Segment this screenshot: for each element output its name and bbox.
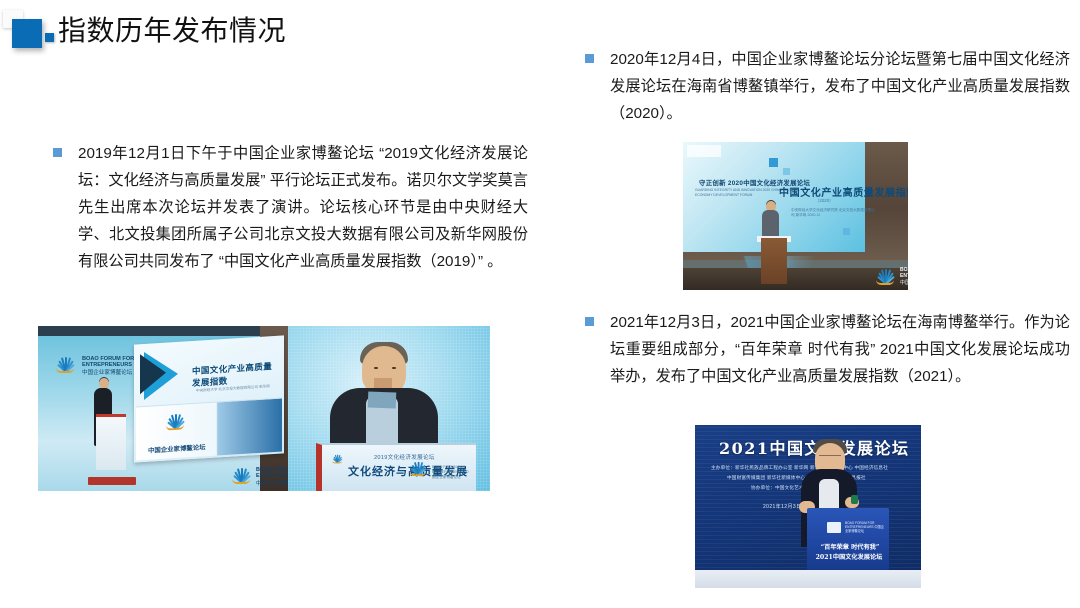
bullet-text-2020: 2020年12月4日，中国企业家博鳌论坛分论坛暨第七届中国文化经济发展论坛在海南… xyxy=(610,46,1070,127)
boao-logo-bottom-cn: 中国企业家博鳌论坛 xyxy=(256,481,288,488)
moyan-collar xyxy=(368,392,397,409)
boao-logo-2020: BOAO FORUM FOR ENTREPRENEURS 中国企业家博鳌论坛 xyxy=(872,266,898,284)
boao-logo-left: BOAO FORUM FOR ENTREPRENEURS 中国企业家博鳌论坛 xyxy=(52,354,78,372)
led-right-title: 中国文化产业高质量发展指数 xyxy=(779,184,908,199)
bullet-square-icon xyxy=(585,317,594,326)
decoration-small-blue-square xyxy=(45,33,54,42)
bullet-text-2019: 2019年12月1日下午于中国企业家博鳌论坛 “2019文化经济发展论坛：文化经… xyxy=(78,140,528,275)
shell-fan-icon-2020 xyxy=(872,266,898,284)
podium-2021-title-1: “百年荣章 时代有我” xyxy=(815,542,885,551)
boao-logo-bottom: BOAO FORUM FOR ENTREPRENEURS 中国企业家博鳌论坛 xyxy=(228,465,254,483)
stage-screen: 中国文化产业高质量发展指数 （2019） 中央财经大学 北京文投大数据有限公司 … xyxy=(134,335,284,462)
led-right-subtitle: （2020） xyxy=(815,198,834,204)
forum-org-line-1: 主办单位：新华社民族品牌工程办公室 新华网 新华社新闻信息中心 中国经济信息社 xyxy=(711,465,888,471)
bullet-text-2021: 2021年12月3日，2021中国企业家博鳌论坛在海南博鳌举行。作为论坛重要组成… xyxy=(610,309,1070,390)
bullet-item-2019: 2019年12月1日下午于中国企业家博鳌论坛 “2019文化经济发展论坛：文化经… xyxy=(38,140,528,275)
podium-shell-fan-icon-right xyxy=(406,459,432,477)
moyan-eye-left xyxy=(374,367,378,369)
bullet-item-2020: 2020年12月4日，中国企业家博鳌论坛分论坛暨第七届中国文化经济发展论坛在海南… xyxy=(570,46,1070,127)
led-decor-square-1 xyxy=(769,158,778,167)
boao-logo-2020-en: BOAO FORUM FOR ENTREPRENEURS xyxy=(900,267,908,279)
photo-2021-forum: 2021中国文化发展论坛 主办单位：新华社民族品牌工程办公室 新华网 新华社新闻… xyxy=(695,425,921,588)
podium-2021-logo-text: BOAO FORUM FOR ENTREPRENEURS 中国企业家博鳌论坛 xyxy=(845,521,885,533)
bullet-square-icon xyxy=(585,54,594,63)
photo-2020-stage: 守正创新 2020中国文化经济发展论坛 GUARDING INTEGRITY A… xyxy=(683,142,908,290)
stage-floor-2021 xyxy=(695,570,921,588)
photo-strip-2019: BOAO FORUM FOR ENTREPRENEURS 中国企业家博鳌论坛 中… xyxy=(38,326,490,491)
screen-lower-band: 中国企业家博鳌论坛 xyxy=(136,398,282,461)
boao-logo-2020-cn: 中国企业家博鳌论坛 xyxy=(900,279,908,286)
speaker-2021-glasses xyxy=(819,455,841,459)
podium-2020 xyxy=(761,238,787,284)
shell-fan-icon xyxy=(52,354,78,372)
hall-ceiling xyxy=(38,326,288,336)
slide-root: 指数历年发布情况 2019年12月1日下午于中国企业家博鳌论坛 “2019文化经… xyxy=(0,0,1080,608)
podium-2021-title-2: 2021中国文化发展论坛 xyxy=(811,552,887,561)
moyan-eye-right xyxy=(392,367,396,369)
bullet-square-icon xyxy=(53,148,62,157)
title-decoration xyxy=(0,8,60,56)
led-decor-square-3 xyxy=(843,228,850,235)
photo-2019-moyan: 2019文化经济发展论坛 文化经济与高质量发展 BOAO FORUM FOR E… xyxy=(288,326,490,491)
page-title: 指数历年发布情况 xyxy=(58,14,286,48)
screen-arrow-dark xyxy=(140,353,166,395)
speaker-2021-mic xyxy=(851,495,858,504)
moyan-podium: 2019文化经济发展论坛 文化经济与高质量发展 BOAO FORUM FOR E… xyxy=(316,443,476,491)
led-corner-logo xyxy=(687,145,721,157)
podium xyxy=(96,414,126,470)
decoration-large-blue-square xyxy=(12,19,42,48)
podium-2021: BOAO FORUM FOR ENTREPRENEURS 中国企业家博鳌论坛 “… xyxy=(807,508,889,570)
bullet-item-2021: 2021年12月3日，2021中国企业家博鳌论坛在海南博鳌举行。作为论坛重要组成… xyxy=(570,309,1070,390)
boao-logo-bottom-en: BOAO FORUM FOR ENTREPRENEURS xyxy=(256,467,288,480)
podium-side-text: BOAO FORUM FOR ENTREPRENEURS 中国企业家博鳌论坛 xyxy=(432,465,472,480)
screen-year: （2019） xyxy=(208,375,229,383)
screen-lower-label: 中国企业家博鳌论坛 xyxy=(148,442,206,455)
led-right-credit: 中央财经大学文化经济研究院 北京文投大数据有限公司 新华网 2020.12 xyxy=(791,208,877,218)
left-column: 2019年12月1日下午于中国企业家博鳌论坛 “2019文化经济发展论坛：文化经… xyxy=(38,140,528,275)
podium-2021-logo xyxy=(827,522,841,533)
led-decor-square-2 xyxy=(783,168,790,175)
shell-fan-icon-bottom xyxy=(228,465,254,483)
photo-2019-stage: BOAO FORUM FOR ENTREPRENEURS 中国企业家博鳌论坛 中… xyxy=(38,326,288,491)
screen-shell-fan-icon xyxy=(162,410,188,430)
podium-base xyxy=(88,477,136,485)
